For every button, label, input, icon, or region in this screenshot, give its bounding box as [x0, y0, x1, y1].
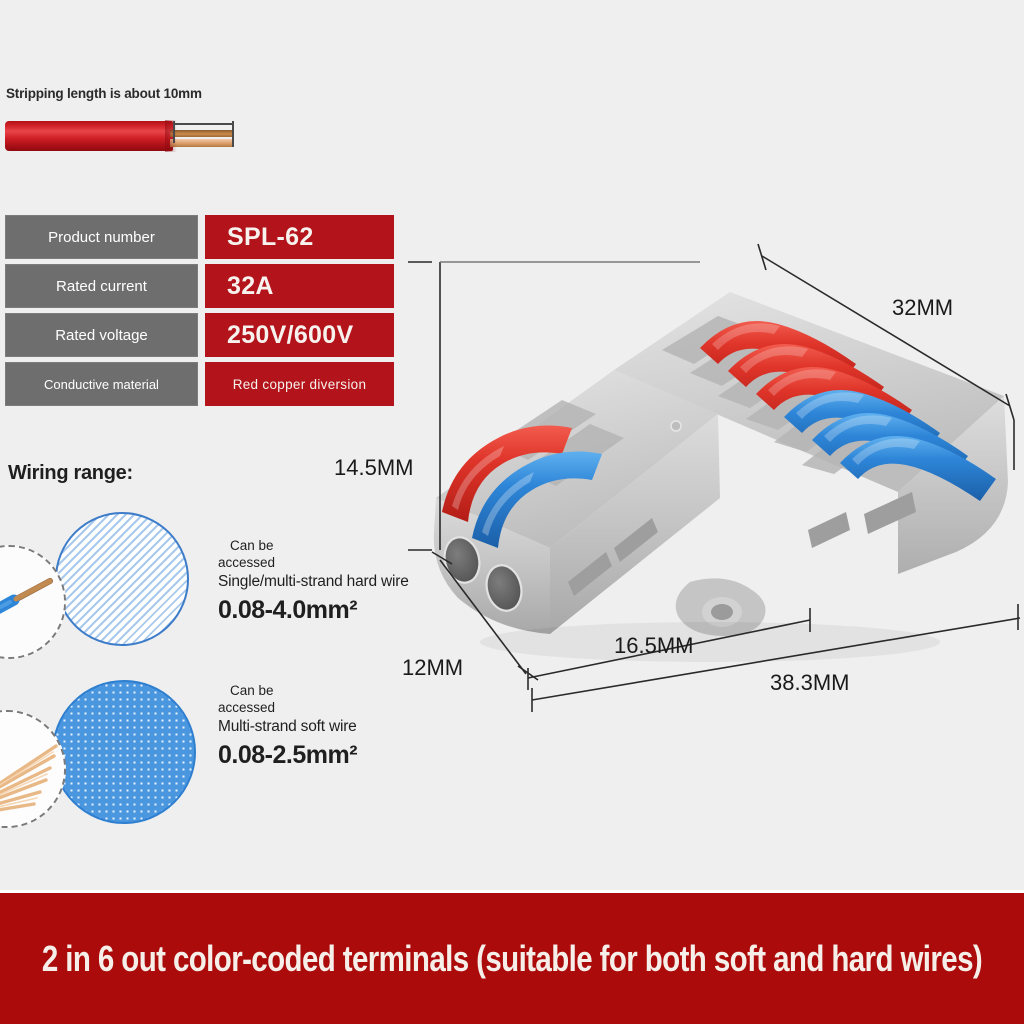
- hard-wire-range-text: Can be accessed Single/multi-strand hard…: [218, 537, 409, 625]
- soft-wire-size: 0.08-2.5mm²: [218, 741, 357, 770]
- hard-wire-range-circle: [55, 512, 189, 646]
- table-row: Rated voltage 250V/600V: [5, 313, 394, 357]
- product-infographic: Stripping length is about 10mm Product n…: [0, 0, 1024, 1024]
- wire-copper-conductor-bottom: [170, 139, 232, 147]
- strip-dimension-line: [173, 123, 233, 125]
- wire-copper-conductor-top: [170, 130, 232, 137]
- table-row: Product number SPL-62: [5, 215, 394, 259]
- spec-value-product-number: SPL-62: [205, 215, 394, 259]
- hard-wire-kind: Single/multi-strand hard wire: [218, 573, 409, 591]
- table-row: Rated current 32A: [5, 264, 394, 308]
- soft-wire-can-be: Can be: [218, 682, 357, 699]
- table-row: Conductive material Red copper diversion: [5, 362, 394, 406]
- hard-wire-can-be-accessed: Can be accessed: [218, 537, 409, 571]
- dimension-label-16-5mm: 16.5MM: [614, 633, 693, 659]
- wiring-range-title: Wiring range:: [8, 462, 133, 485]
- stripped-wire-illustration: [5, 110, 295, 160]
- soft-wire-kind: Multi-strand soft wire: [218, 718, 357, 736]
- hard-wire-size: 0.08-4.0mm²: [218, 596, 409, 625]
- spec-value-rated-voltage: 250V/600V: [205, 313, 394, 357]
- banner-headline: 2 in 6 out color-coded terminals (suitab…: [42, 939, 982, 980]
- multi-strand-wire-icon: [0, 712, 64, 826]
- strip-dimension-tick-right: [232, 121, 234, 147]
- spec-key-rated-voltage: Rated voltage: [5, 313, 198, 357]
- soft-wire-range-text: Can be accessed Multi-strand soft wire 0…: [218, 682, 357, 770]
- spec-key-rated-current: Rated current: [5, 264, 198, 308]
- soft-wire-accessed: accessed: [218, 700, 275, 715]
- hard-wire-can-be: Can be: [218, 537, 409, 554]
- hard-wire-accessed: accessed: [218, 555, 275, 570]
- bottom-banner: 2 in 6 out color-coded terminals (suitab…: [0, 890, 1024, 1024]
- soft-wire-range-circle: [52, 680, 196, 824]
- spec-key-product-number: Product number: [5, 215, 198, 259]
- spec-value-conductive-material: Red copper diversion: [205, 362, 394, 406]
- strip-dimension-tick-left: [173, 121, 175, 143]
- dimension-label-32mm: 32MM: [892, 295, 953, 321]
- dimension-label-12mm: 12MM: [402, 655, 463, 681]
- dimension-label-14-5mm: 14.5MM: [334, 455, 413, 481]
- single-strand-wire-icon: [0, 547, 64, 657]
- stripping-length-label: Stripping length is about 10mm: [6, 86, 202, 101]
- spec-value-rated-current: 32A: [205, 264, 394, 308]
- stripping-length-section: Stripping length is about 10mm: [0, 86, 300, 176]
- dimension-label-38-3mm: 38.3MM: [770, 670, 849, 696]
- wire-sheath-edge: [165, 120, 177, 152]
- product-photo-with-dimensions: 32MM 14.5MM 12MM 16.5MM 38.3MM: [400, 230, 1024, 730]
- specification-table: Product number SPL-62 Rated current 32A …: [5, 215, 394, 407]
- soft-wire-can-be-accessed: Can be accessed: [218, 682, 357, 716]
- wire-insulation: [5, 121, 173, 151]
- spec-key-conductive-material: Conductive material: [5, 362, 198, 406]
